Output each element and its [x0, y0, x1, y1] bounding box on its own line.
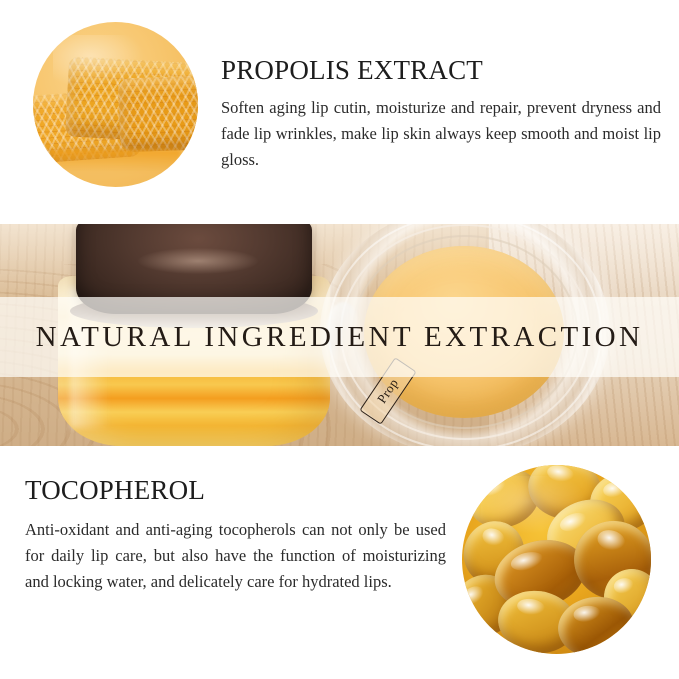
tocopherol-description: Anti-oxidant and anti-aging tocopherols …: [25, 517, 446, 595]
product-feature-infographic: PROPOLIS EXTRACT Soften aging lip cutin,…: [0, 0, 679, 679]
propolis-section: PROPOLIS EXTRACT Soften aging lip cutin,…: [0, 0, 679, 224]
propolis-description: Soften aging lip cutin, moisturize and r…: [221, 95, 661, 173]
honeycomb-gloss: [53, 35, 144, 88]
banner-section: Prop NATURAL INGREDIENT EXTRACTION: [0, 224, 679, 446]
oil-capsules-image: [462, 465, 651, 654]
propolis-heading: PROPOLIS EXTRACT: [221, 55, 661, 86]
honeycomb-texture: [33, 22, 198, 187]
propolis-text-block: PROPOLIS EXTRACT Soften aging lip cutin,…: [221, 55, 661, 173]
tocopherol-text-block: TOCOPHEROL Anti-oxidant and anti-aging t…: [25, 475, 446, 595]
honey-drip: [51, 150, 181, 172]
tocopherol-heading: TOCOPHEROL: [25, 475, 446, 506]
tocopherol-section: TOCOPHEROL Anti-oxidant and anti-aging t…: [0, 446, 679, 679]
banner-title: NATURAL INGREDIENT EXTRACTION: [0, 297, 679, 377]
honeycomb-image: [33, 22, 198, 187]
jar-lid-sheen: [138, 248, 258, 274]
